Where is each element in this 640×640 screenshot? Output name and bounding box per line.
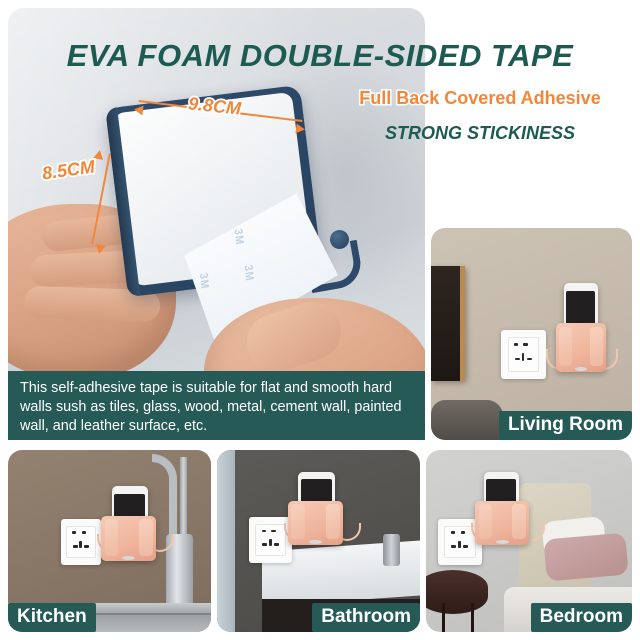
pink-pillow — [544, 532, 630, 581]
outlet-slot — [523, 343, 527, 346]
outlet-slot — [262, 543, 267, 546]
phone-holder-mount — [556, 323, 606, 372]
outlet-slot — [84, 545, 89, 548]
phone-home-button — [122, 556, 135, 560]
wall-hook-ball — [330, 230, 349, 249]
mount-pocket-left — [105, 519, 119, 555]
outlet-slot — [451, 545, 456, 548]
scene-bathroom: Bathroom — [217, 450, 420, 632]
outlet-slot — [79, 541, 82, 548]
outlet-slot — [451, 531, 455, 534]
phone-holder-mount — [475, 501, 529, 545]
outlet-slot — [73, 545, 78, 548]
outlet-slot — [522, 353, 525, 361]
bathroom-door-frame — [217, 450, 235, 632]
mount-pocket-right — [590, 327, 603, 366]
outlet-slot — [262, 530, 266, 533]
phone-home-button — [309, 540, 322, 544]
phone-home-button — [575, 367, 587, 371]
phone-holder-mount — [288, 501, 343, 545]
outlet-slot — [269, 539, 272, 546]
outlet-slot — [274, 543, 279, 546]
mount-pocket-left — [479, 504, 492, 539]
outlet-slot — [271, 530, 275, 533]
product-marketing-image: 3M 3M 3M 9.8CM 8.5CM EVA FOAM DOUBLE-SID… — [0, 0, 640, 640]
mount-pocket-right — [326, 504, 340, 539]
mount-pocket-right — [512, 504, 525, 539]
outlet-slot — [82, 531, 86, 534]
subtitle-stickiness: STRONG STICKINESS — [330, 123, 630, 144]
scene-bedroom: Bedroom — [426, 450, 632, 632]
power-outlet — [61, 519, 102, 565]
nightstand-leg — [471, 603, 474, 632]
faucet-stem — [180, 457, 187, 537]
liner-brand-mark: 3M — [241, 264, 255, 283]
mount-pocket-left — [559, 327, 572, 366]
liner-brand-mark: 3M — [232, 228, 246, 247]
outlet-slot — [458, 541, 461, 548]
soap-dispenser — [383, 534, 399, 567]
room-label-kitchen: Kitchen — [8, 603, 96, 632]
outlet-slot — [527, 358, 532, 361]
width-arrow-right-icon — [295, 123, 305, 134]
room-label-bathroom: Bathroom — [312, 603, 420, 632]
phone-holder-mount — [101, 516, 156, 562]
scene-kitchen: Kitchen — [8, 450, 211, 632]
tv-screen — [431, 266, 465, 380]
description-box: This self-adhesive tape is suitable for … — [8, 371, 425, 440]
outlet-face — [508, 337, 540, 372]
page-title: EVA FOAM DOUBLE-SIDED TAPE — [0, 38, 640, 74]
height-arrow-bottom-icon — [94, 244, 106, 255]
room-label-bedroom: Bedroom — [531, 603, 632, 632]
outlet-slot — [72, 531, 76, 534]
mount-pocket-left — [291, 504, 305, 539]
scene-living-room: Living Room — [431, 228, 632, 440]
height-arrow-top-icon — [93, 149, 105, 160]
tv-frame — [460, 266, 465, 380]
room-label-living-room: Living Room — [499, 411, 632, 440]
outlet-slot — [461, 531, 465, 534]
sofa — [431, 400, 503, 440]
nightstand — [426, 570, 488, 614]
outlet-slot — [515, 358, 520, 361]
outlet-face — [66, 526, 95, 559]
outlet-face — [255, 524, 286, 557]
outlet-slot — [463, 545, 468, 548]
liner-brand-mark: 3M — [197, 272, 211, 291]
outlet-slot — [514, 343, 518, 346]
width-arrow-left-icon — [133, 104, 143, 115]
phone-home-button — [496, 540, 509, 544]
mount-pocket-right — [139, 519, 153, 555]
subtitle-adhesive: Full Back Covered Adhesive — [330, 88, 630, 109]
nightstand-leg — [442, 603, 445, 632]
power-outlet — [501, 330, 545, 379]
